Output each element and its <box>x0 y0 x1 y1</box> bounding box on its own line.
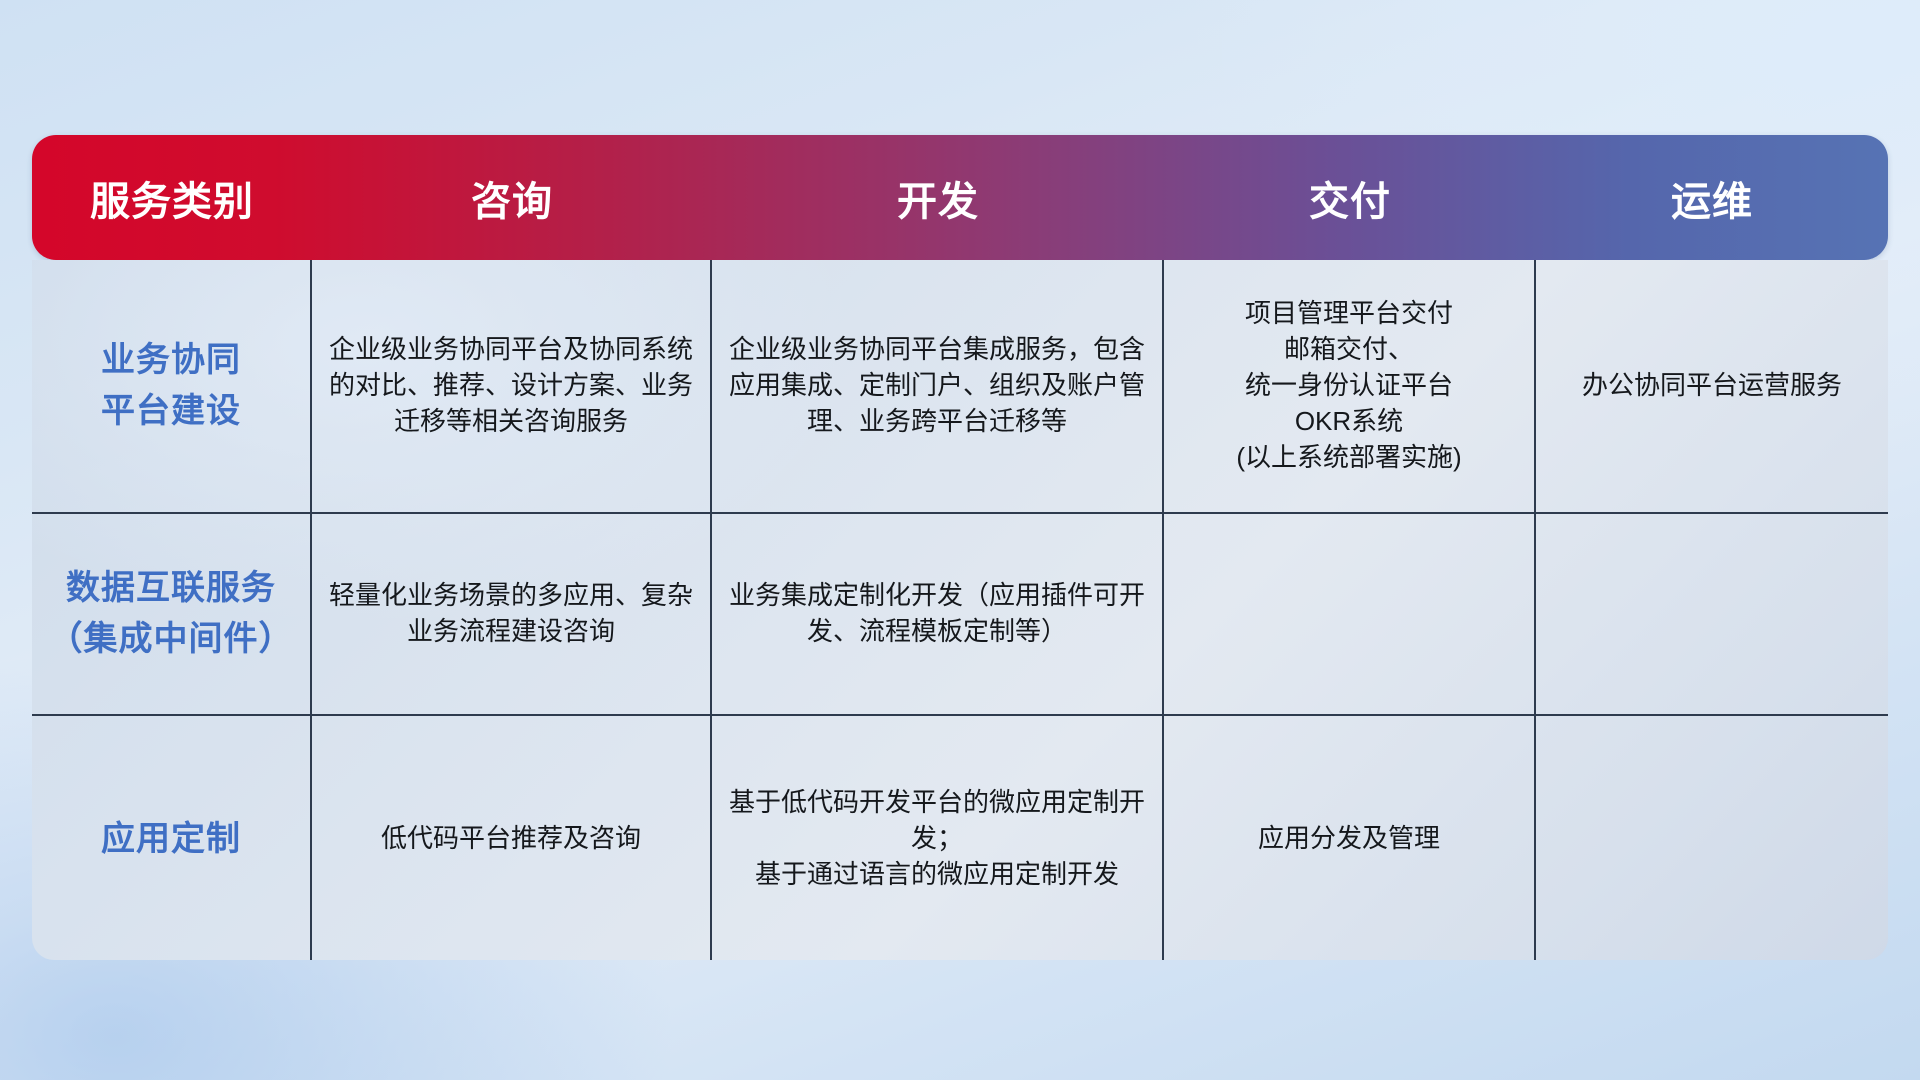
row-category-label: 数据互联服务（集成中间件） <box>49 563 294 665</box>
column-header-consulting: 咨询 <box>312 169 712 227</box>
cell-development: 业务集成定制化开发（应用插件可开发、流程模板定制等） <box>712 514 1164 714</box>
row-category-label: 应用定制 <box>101 814 241 865</box>
table-row: 数据互联服务（集成中间件） 轻量化业务场景的多应用、复杂业务流程建设咨询 业务集… <box>32 512 1888 714</box>
table-body: 业务协同平台建设 企业级业务协同平台及协同系统的对比、推荐、设计方案、业务迁移等… <box>32 260 1888 960</box>
cell-consulting: 低代码平台推荐及咨询 <box>312 716 712 960</box>
service-matrix-table: 服务类别 咨询 开发 交付 运维 业务协同平台建设 企业级业务协同平台及协同系统… <box>32 135 1888 960</box>
cell-consulting: 轻量化业务场景的多应用、复杂业务流程建设咨询 <box>312 514 712 714</box>
cell-consulting: 企业级业务协同平台及协同系统的对比、推荐、设计方案、业务迁移等相关咨询服务 <box>312 260 712 512</box>
cell-operations <box>1536 716 1888 960</box>
column-header-delivery: 交付 <box>1164 169 1536 227</box>
row-category-label: 业务协同平台建设 <box>101 335 241 437</box>
table-header-row: 服务类别 咨询 开发 交付 运维 <box>32 135 1888 260</box>
row-category-cell: 业务协同平台建设 <box>32 260 312 512</box>
cell-delivery: 项目管理平台交付邮箱交付、统一身份认证平台OKR系统(以上系统部署实施) <box>1164 260 1536 512</box>
column-header-service-category: 服务类别 <box>32 169 312 227</box>
table-row: 业务协同平台建设 企业级业务协同平台及协同系统的对比、推荐、设计方案、业务迁移等… <box>32 260 1888 512</box>
column-header-development: 开发 <box>712 169 1164 227</box>
cell-operations: 办公协同平台运营服务 <box>1536 260 1888 512</box>
cell-delivery <box>1164 514 1536 714</box>
cell-development: 企业级业务协同平台集成服务，包含应用集成、定制门户、组织及账户管理、业务跨平台迁… <box>712 260 1164 512</box>
table-row: 应用定制 低代码平台推荐及咨询 基于低代码开发平台的微应用定制开发；基于通过语言… <box>32 714 1888 960</box>
row-category-cell: 应用定制 <box>32 716 312 960</box>
cell-operations <box>1536 514 1888 714</box>
cell-delivery: 应用分发及管理 <box>1164 716 1536 960</box>
row-category-cell: 数据互联服务（集成中间件） <box>32 514 312 714</box>
column-header-operations: 运维 <box>1536 169 1888 227</box>
cell-development: 基于低代码开发平台的微应用定制开发；基于通过语言的微应用定制开发 <box>712 716 1164 960</box>
